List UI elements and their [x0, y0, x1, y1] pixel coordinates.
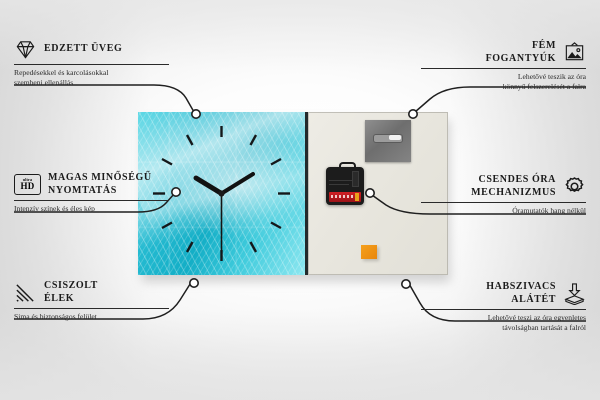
callout-rule [421, 309, 586, 310]
diamond-icon [14, 38, 37, 61]
callout-rule [421, 202, 586, 203]
battery [329, 192, 361, 202]
badge-hd-text: HD [20, 182, 34, 191]
foam-pad [361, 245, 377, 259]
ultra-hd-badge-icon: ultra HD [14, 174, 41, 195]
callout-rule [421, 68, 586, 69]
callout-title: HABSZIVACSALÁTÉT [486, 281, 556, 306]
callout-title: CSISZOLTÉLEK [44, 280, 98, 305]
callout-habszivacs-alatet: HABSZIVACSALÁTÉT Lehetővé teszi az óra e… [421, 281, 586, 333]
metal-hanger-bracket [365, 120, 411, 162]
callout-title: CSENDES ÓRAMECHANIZMUS [471, 174, 556, 199]
callout-title: MAGAS MINŐSÉGŰNYOMTATÁS [48, 172, 152, 197]
callout-title: EDZETT ÜVEG [44, 43, 122, 56]
callout-csiszolt-elek: CSISZOLTÉLEK Sima és biztonságos felület [14, 280, 169, 322]
callout-description: Repedésekkel és karcolásokkal szembeni e… [14, 68, 169, 88]
callout-rule [14, 308, 169, 309]
callout-description: Intenzív színek és éles kép [14, 204, 169, 214]
callout-description: Lehetővé teszi az óra egyenletes távolsá… [421, 313, 586, 333]
polished-edge-icon [14, 281, 37, 304]
callout-fem-fogantyuk: FÉMFOGANTYÚK Lehetővé teszik az óra könn… [421, 40, 586, 92]
callout-description: Sima és biztonságos felület [14, 312, 169, 322]
callout-rule [14, 64, 169, 65]
picture-hanger-icon [563, 41, 586, 64]
callout-description: Óramutatók hang nélkül [421, 206, 586, 216]
callout-title: FÉMFOGANTYÚK [486, 40, 556, 65]
product-image [138, 112, 448, 276]
gear-icon [563, 175, 586, 198]
callout-edzett-uveg: EDZETT ÜVEG Repedésekkel és karcolásokka… [14, 38, 169, 88]
clock-mechanism [326, 167, 364, 205]
callout-csendes-ora-mechanizmus: CSENDES ÓRAMECHANIZMUS Óramutatók hang n… [421, 174, 586, 216]
foam-pad-arrow-icon [563, 282, 586, 305]
callout-rule [14, 200, 169, 201]
infographic-canvas: EDZETT ÜVEG Repedésekkel és karcolásokka… [0, 0, 600, 400]
callout-magas-minosegu-nyomtatas: ultra HD MAGAS MINŐSÉGŰNYOMTATÁS Intenzí… [14, 172, 169, 214]
callout-description: Lehetővé teszik az óra könnyű felszerelé… [421, 72, 586, 92]
